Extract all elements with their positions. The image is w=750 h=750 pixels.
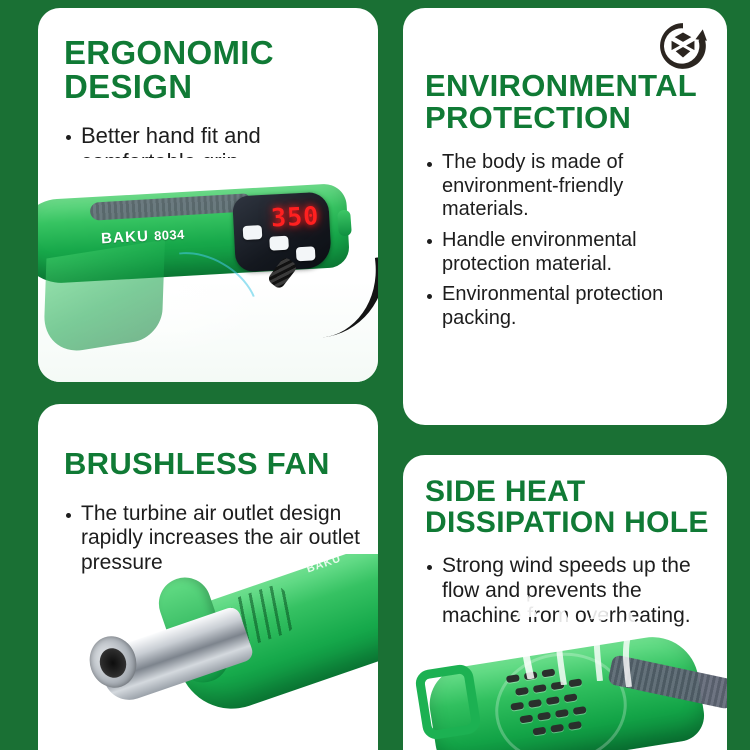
card-side-heat-dissipation-hole: SIDE HEATDISSIPATION HOLE Strong wind sp… [403, 455, 727, 750]
list-item: The body is made of environment-friendly… [425, 151, 711, 222]
recycling-packaging-icon [657, 20, 709, 72]
page-title: SIDE HEATDISSIPATION HOLE [425, 477, 713, 538]
vent-hole [537, 712, 551, 721]
vent-hole [573, 706, 587, 715]
panel-button-2[interactable] [269, 236, 289, 251]
airflow-arrow-icon [548, 601, 578, 685]
vent-hole [564, 693, 578, 702]
card-text-block: ENVIRONMENTALPROTECTION The body is made… [425, 70, 711, 337]
temperature-display: 350 [270, 201, 320, 232]
page-title: ENVIRONMENTALPROTECTION [425, 70, 711, 133]
airflow-arrow-icon [615, 609, 647, 687]
vent-hole [519, 715, 533, 724]
list-item: Handle environmental protection material… [425, 229, 711, 276]
brand-name: BAKU [101, 228, 150, 248]
airflow-arrow-icon [585, 595, 615, 681]
infographic-canvas: ERGONOMICDESIGN Better hand fit and comf… [0, 0, 750, 750]
vent-hole [510, 702, 524, 711]
list-item: Environmental protection packing. [425, 283, 711, 330]
vent-hole [532, 727, 546, 736]
card-environmental-protection: ENVIRONMENTALPROTECTION The body is made… [403, 8, 727, 425]
product-photo-nozzle: BAKU [38, 554, 378, 750]
product-photo-side-vent [403, 595, 727, 750]
vent-hole [568, 721, 582, 730]
card-ergonomic-design: ERGONOMICDESIGN Better hand fit and comf… [38, 8, 378, 382]
airflow-arrow-icon [511, 595, 545, 679]
panel-button-1[interactable] [243, 225, 263, 240]
vent-hole [555, 709, 569, 718]
vent-hole [515, 687, 529, 696]
vent-hole [533, 684, 547, 693]
body-nub [337, 210, 352, 237]
feature-bullet-list: The body is made of environment-friendly… [425, 151, 711, 330]
vent-hole [528, 699, 542, 708]
product-photo-heat-gun-handle: BAKU8034 350 [38, 158, 378, 382]
hanging-loop [414, 663, 482, 741]
model-number: 8034 [154, 227, 185, 244]
card-brushless-fan: BRUSHLESS FAN The turbine air outlet des… [38, 404, 378, 750]
vent-hole [550, 724, 564, 733]
panel-button-3[interactable] [296, 246, 316, 261]
vent-hole [546, 696, 560, 705]
page-title: BRUSHLESS FAN [64, 448, 364, 480]
page-title: ERGONOMICDESIGN [64, 36, 364, 103]
